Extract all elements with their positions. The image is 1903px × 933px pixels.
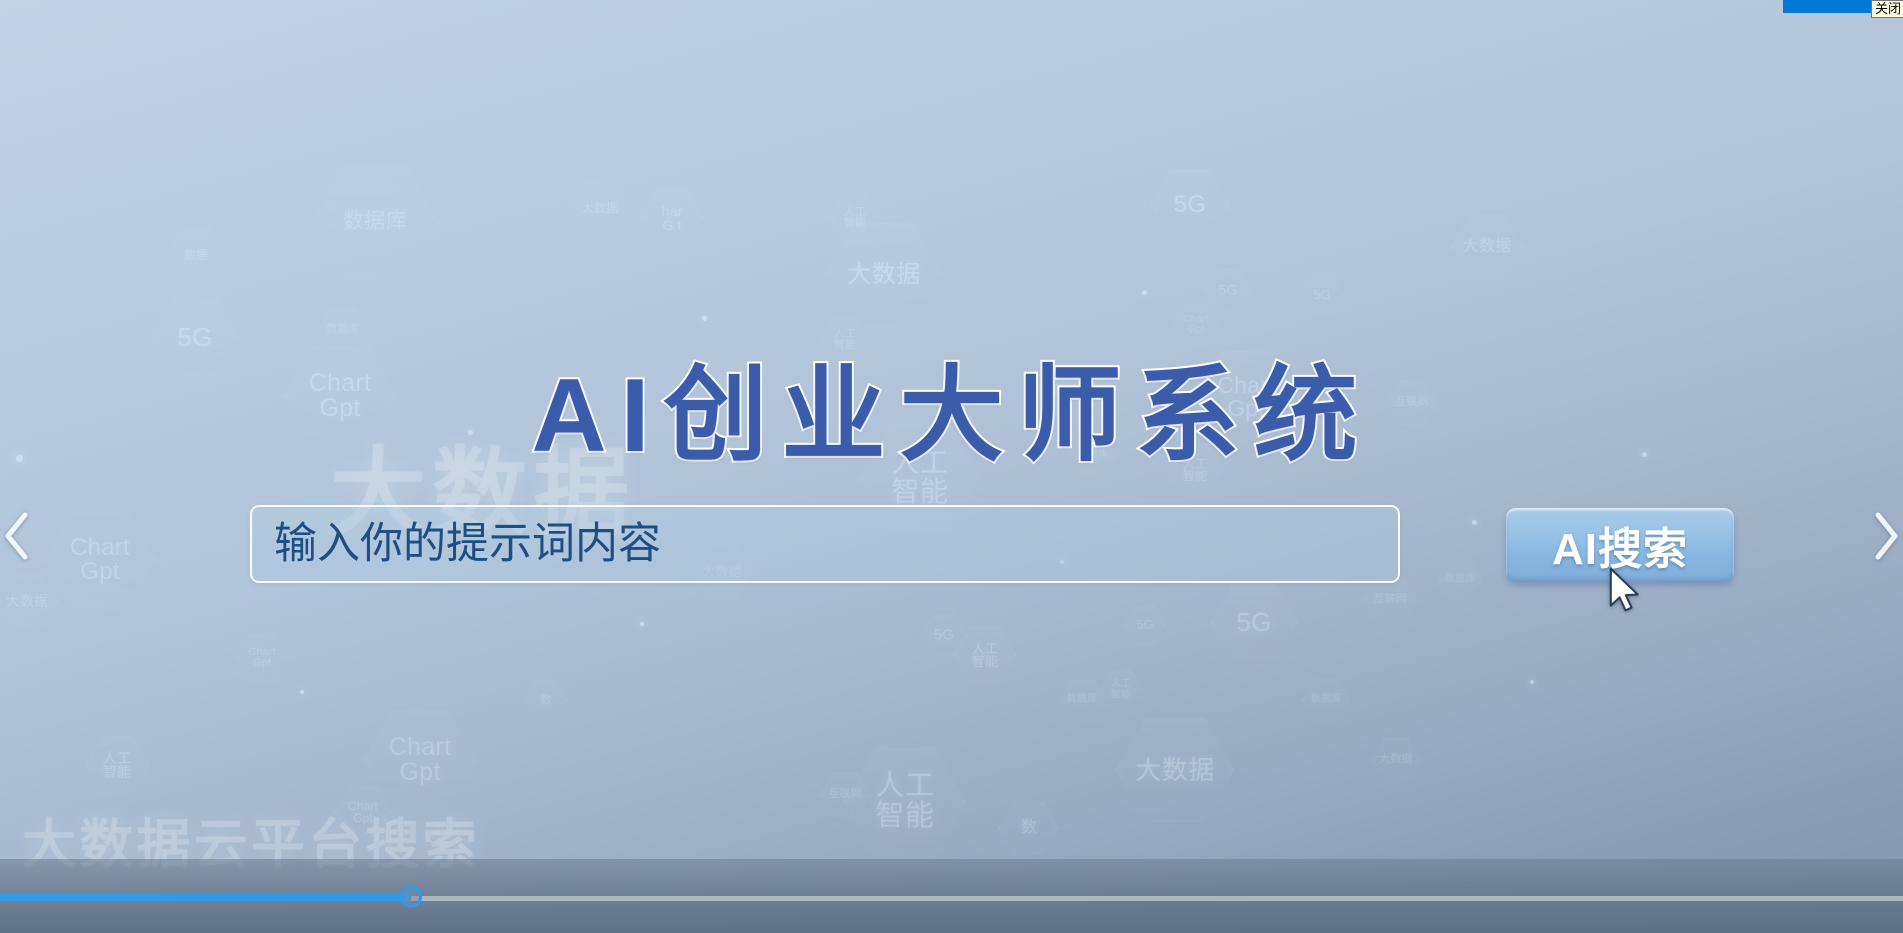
hex-outline <box>1302 678 1350 723</box>
hex-node-label: 5G <box>1236 609 1271 636</box>
hex-node-label: Chart Gpt <box>389 735 451 786</box>
window-titlebar-accent <box>1783 0 1881 13</box>
hex-outer-ring <box>299 152 450 291</box>
hex-node-label: 大数据 <box>6 594 49 608</box>
background-hex-node: 数据库 <box>311 163 439 281</box>
hex-node-label: 人工 智能 <box>972 642 999 669</box>
hex-outline <box>954 626 1016 684</box>
background-hex-node: 人工 智能 <box>829 193 881 243</box>
hex-outline <box>166 227 226 283</box>
hex-node-label: 5G <box>1219 283 1238 297</box>
background-hex-node: 5G <box>921 614 967 657</box>
hex-outer-ring <box>1203 575 1304 669</box>
hex-outline <box>819 771 871 819</box>
hex-outline <box>1300 274 1344 316</box>
ai-search-button[interactable]: AI搜索 <box>1506 508 1734 582</box>
background-hex-node: 大数据 <box>1371 737 1421 783</box>
hex-outline <box>921 614 967 657</box>
carousel-next-button[interactable] <box>1863 506 1903 566</box>
hex-node-label: 互联网 <box>828 789 862 800</box>
hex-node-label: 大数据 <box>582 202 619 214</box>
hex-node-label: 5G <box>934 627 954 642</box>
hex-outline <box>1211 582 1297 662</box>
hex-node-label: Chart Gpt <box>348 800 378 824</box>
hex-node-label: 大数据 <box>847 263 920 287</box>
hex-outer-ring <box>814 210 953 340</box>
background-hex-node: Chart Gpt <box>334 785 392 839</box>
hex-node-label: 人工 智能 <box>844 207 866 229</box>
carousel-prev-button[interactable] <box>0 506 40 566</box>
background-hex-node: 大数据 <box>571 181 629 235</box>
hex-outer-ring <box>833 735 977 870</box>
hex-outline <box>844 745 966 859</box>
background-glow-dot <box>1142 290 1147 295</box>
hex-outline <box>999 800 1059 856</box>
hex-outline <box>364 708 476 812</box>
hex-node-label: 数 <box>1021 820 1037 836</box>
chevron-right-icon <box>1871 511 1901 561</box>
hex-node-label: 数据库 <box>343 211 407 232</box>
hex-outline <box>1371 737 1421 783</box>
hex-outline <box>825 220 943 330</box>
background-hex-node: 数 <box>524 680 568 721</box>
seek-progress-fill <box>0 894 411 901</box>
background-hex-node: 5G <box>1151 168 1229 242</box>
hex-outer-ring <box>1105 705 1244 835</box>
hex-outline <box>1451 213 1523 281</box>
hex-node-label: 数据 <box>184 249 208 261</box>
prompt-input[interactable] <box>250 505 1400 583</box>
hex-node-label: har G t <box>662 204 683 233</box>
close-tooltip: 关闭 <box>1871 0 1903 18</box>
hex-node-label: 大数据 <box>1379 754 1413 765</box>
hex-node-label: 互联网 <box>1373 594 1407 605</box>
background-hex-node: 人工 智能 <box>1099 670 1143 711</box>
seek-handle[interactable] <box>400 886 422 908</box>
hex-node-label: 数 <box>540 694 552 706</box>
hex-node-label: Chart Gpt <box>248 647 275 669</box>
hex-outer-ring <box>1144 161 1236 248</box>
hex-outline <box>1124 605 1166 645</box>
hex-outline <box>235 633 289 683</box>
background-hex-node: 数 <box>999 800 1059 856</box>
background-hex-node: 5G <box>1211 582 1297 662</box>
background-hex-node: 数据库 <box>1302 678 1350 723</box>
hex-outline <box>1059 679 1105 722</box>
background-hex-node: 人工 智能 <box>85 735 149 795</box>
player-bottom-bar <box>0 859 1903 933</box>
background-glow-dot <box>702 316 707 321</box>
hex-outline <box>571 181 629 235</box>
background-hex-node: 5G <box>1124 605 1166 645</box>
hex-node-label: 5G <box>1313 288 1331 301</box>
hex-outline <box>85 735 149 795</box>
hex-node-label: 数据库 <box>1311 695 1342 705</box>
hex-outline <box>524 680 568 721</box>
background-hex-node: 数据 <box>166 227 226 283</box>
background-hex-node: 人工 智能 <box>844 745 966 859</box>
hex-outer-ring <box>354 699 486 822</box>
background-glow-dot <box>1530 680 1534 684</box>
hex-outline <box>1204 268 1252 313</box>
hex-node-label: 5G <box>1136 618 1154 631</box>
background-glow-dot <box>300 690 304 694</box>
background-hex-node: Chart Gpt <box>235 633 289 683</box>
background-hex-node: 5G <box>1204 268 1252 313</box>
background-hex-node: Chart Gpt <box>364 708 476 812</box>
page-title: AI创业大师系统 <box>0 330 1903 481</box>
hex-outline <box>829 193 881 243</box>
hex-outline <box>1099 670 1143 711</box>
background-hex-node: 互联网 <box>819 771 871 819</box>
hex-outline <box>334 785 392 839</box>
hex-outline <box>1116 715 1234 825</box>
search-row: AI搜索 <box>0 505 1903 587</box>
background-hex-node: har G t <box>640 188 704 248</box>
chevron-left-icon <box>2 511 32 561</box>
hex-outline <box>640 188 704 248</box>
hex-outer-ring <box>1445 207 1530 287</box>
hex-outline <box>311 163 439 281</box>
background-hex-node: 数据库 <box>1059 679 1105 722</box>
background-hex-node: 人工 智能 <box>954 626 1016 684</box>
background-hex-node: 大数据 <box>1451 213 1523 281</box>
hex-node-label: 数据库 <box>1067 695 1098 705</box>
hex-node-label: 人工 智能 <box>875 772 934 831</box>
hex-node-label: 大数据 <box>1463 239 1512 255</box>
background-hex-node: 5G <box>1300 274 1344 316</box>
app-screen: 数据库数据5GChart Gpt数据库大数据har G t人工 智能大数据人工 … <box>0 0 1903 933</box>
hex-node-label: 大数据 <box>1135 757 1215 784</box>
hex-node-label: 5G <box>1174 193 1207 217</box>
background-hex-node: 大数据 <box>1116 715 1234 825</box>
background-hex-node: 大数据 <box>825 220 943 330</box>
hex-node-label: 人工 智能 <box>1111 680 1131 700</box>
hex-node-label: 人工 智能 <box>103 751 132 780</box>
background-glow-dot <box>640 622 644 626</box>
hex-outline <box>1151 168 1229 242</box>
